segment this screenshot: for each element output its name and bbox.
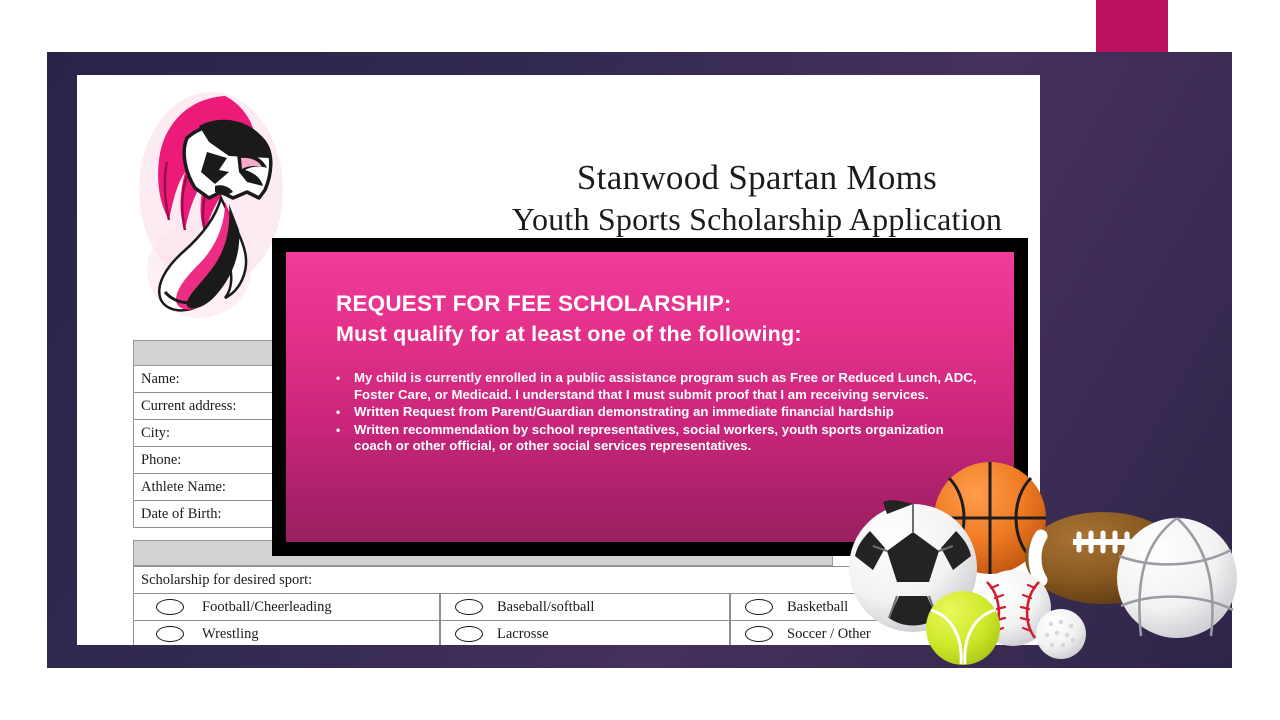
radio-bubble-icon[interactable] <box>156 626 184 642</box>
sport-option-basketball[interactable]: Basketball <box>730 594 933 621</box>
callout-bullet-text: Written recommendation by school represe… <box>354 422 980 455</box>
radio-bubble-icon[interactable] <box>745 626 773 642</box>
callout-bullet-item: • Written Request from Parent/Guardian d… <box>336 404 980 421</box>
radio-bubble-icon[interactable] <box>745 599 773 615</box>
callout-heading: REQUEST FOR FEE SCHOLARSHIP: Must qualif… <box>336 288 980 350</box>
radio-bubble-icon[interactable] <box>156 599 184 615</box>
fee-scholarship-callout: REQUEST FOR FEE SCHOLARSHIP: Must qualif… <box>272 238 1028 556</box>
sport-option-label: Lacrosse <box>497 626 549 643</box>
sport-option-label: Baseball/softball <box>497 599 594 616</box>
bullet-marker-icon: • <box>336 422 354 455</box>
sport-section-label: Scholarship for desired sport: <box>133 566 933 594</box>
sport-options-grid: Football/Cheerleading Baseball/softball … <box>133 594 933 645</box>
sport-option-football-cheerleading[interactable]: Football/Cheerleading <box>133 594 440 621</box>
sport-option-label: Soccer / Other <box>787 626 871 643</box>
callout-bullet-text: My child is currently enrolled in a publ… <box>354 370 980 403</box>
radio-bubble-icon[interactable] <box>455 599 483 615</box>
sport-option-wrestling[interactable]: Wrestling <box>133 621 440 645</box>
callout-bullet-list: • My child is currently enrolled in a pu… <box>336 370 980 455</box>
callout-bullet-item: • Written recommendation by school repre… <box>336 422 980 455</box>
sport-option-soccer-other[interactable]: Soccer / Other <box>730 621 933 645</box>
sport-option-label: Basketball <box>787 599 848 616</box>
callout-content: REQUEST FOR FEE SCHOLARSHIP: Must qualif… <box>286 252 1014 542</box>
bullet-marker-icon: • <box>336 404 354 421</box>
sport-option-lacrosse[interactable]: Lacrosse <box>440 621 730 645</box>
callout-heading-line2: Must qualify for at least one of the fol… <box>336 319 980 350</box>
sport-option-label: Football/Cheerleading <box>202 599 332 616</box>
sport-options-row-1: Football/Cheerleading Baseball/softball … <box>133 594 933 621</box>
radio-bubble-icon[interactable] <box>455 626 483 642</box>
bullet-marker-icon: • <box>336 370 354 403</box>
document-title: Stanwood Spartan Moms Youth Sports Schol… <box>497 157 1017 239</box>
sport-option-baseball-softball[interactable]: Baseball/softball <box>440 594 730 621</box>
sport-option-label: Wrestling <box>202 626 259 643</box>
callout-bullet-text: Written Request from Parent/Guardian dem… <box>354 404 980 421</box>
sport-options-row-2: Wrestling Lacrosse Soccer / Other <box>133 621 933 645</box>
spartan-helmet-icon <box>129 80 294 320</box>
document-title-line2: Youth Sports Scholarship Application <box>497 199 1017 239</box>
callout-bullet-item: • My child is currently enrolled in a pu… <box>336 370 980 403</box>
document-title-line1: Stanwood Spartan Moms <box>497 157 1017 199</box>
slide-canvas: Stanwood Spartan Moms Youth Sports Schol… <box>0 0 1280 720</box>
callout-heading-line1: REQUEST FOR FEE SCHOLARSHIP: <box>336 288 980 319</box>
